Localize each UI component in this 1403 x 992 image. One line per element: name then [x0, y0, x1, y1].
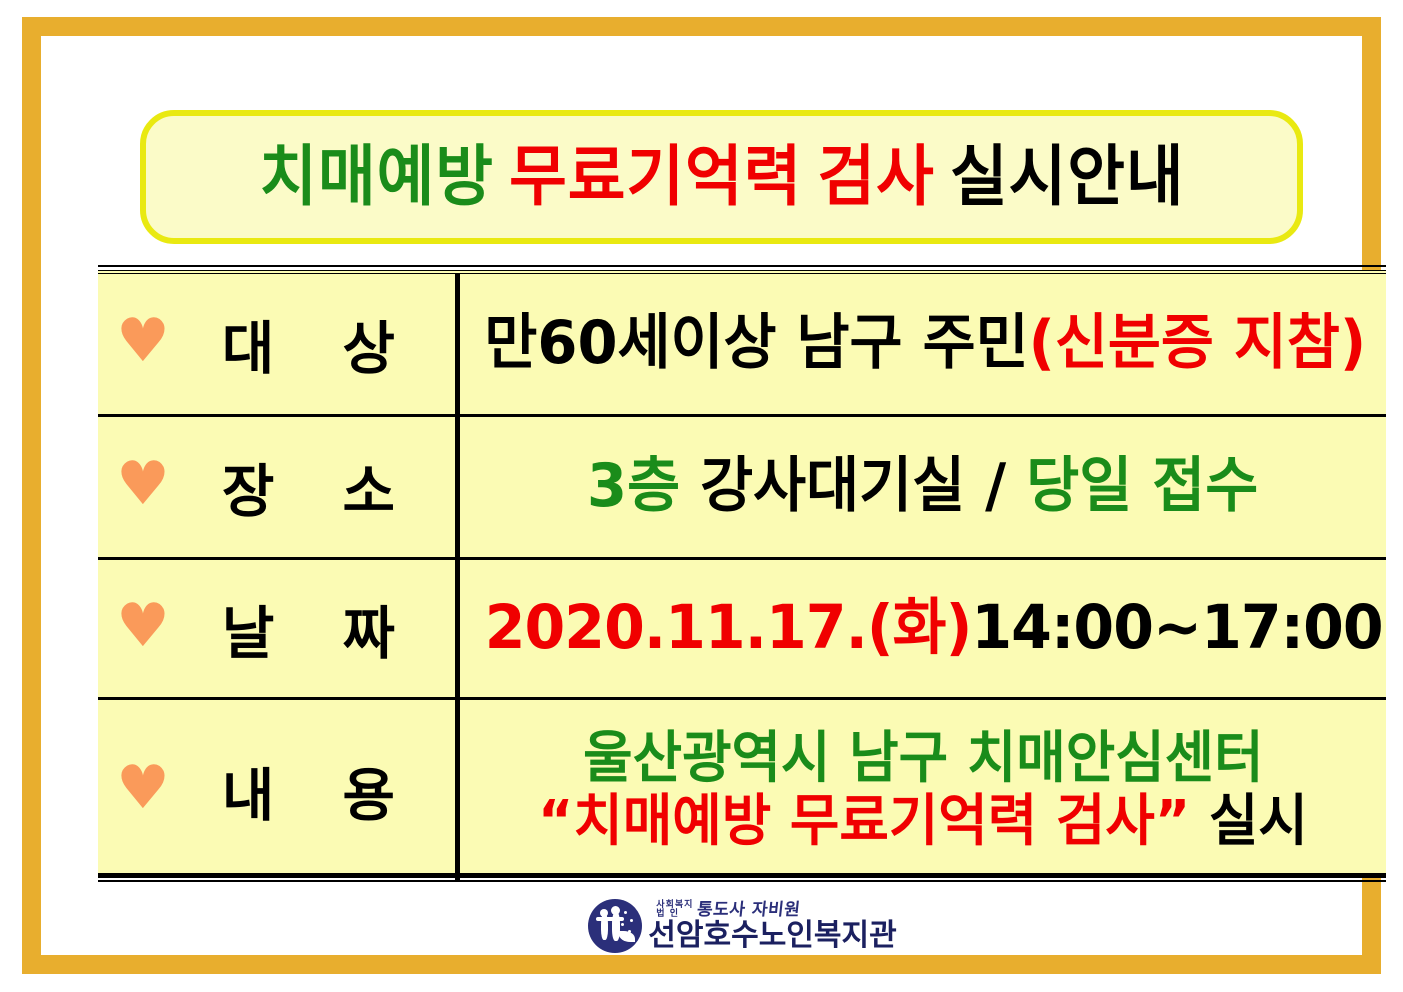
row-label-cell: ♥ 장 소: [98, 417, 460, 557]
organization-logo: 사회복지 법 인 통도사 자비원 선암호수노인복지관: [82, 899, 1403, 953]
row-label-text: 대 상: [180, 303, 455, 385]
row-value-cell: 울산광역시 남구 치매안심센터 “치매예방 무료기억력 검사” 실시: [460, 700, 1386, 882]
row-label-cell: ♥ 내 용: [98, 700, 460, 882]
logo-center-name: 선암호수노인복지관: [648, 921, 896, 951]
row-value-line: “치매예방 무료기억력 검사” 실시: [538, 791, 1308, 854]
value-segment: 14:00~17:00: [971, 592, 1382, 663]
row-label-char: 내: [222, 750, 274, 832]
title-banner: 치매예방무료기억력검사실시안내: [140, 110, 1303, 244]
logo-text-block: 사회복지 법 인 통도사 자비원 선암호수노인복지관: [648, 901, 896, 952]
row-value-cell: 만60세이상 남구 주민(신분증 지참): [460, 274, 1391, 414]
row-value-line: 울산광역시 남구 치매안심센터: [583, 728, 1263, 791]
value-segment: 3층: [587, 451, 680, 521]
title-segment-1: 치매예방: [259, 138, 494, 215]
row-label-char: 상: [342, 303, 394, 385]
value-segment: 울산광역시 남구 치매안심센터: [583, 726, 1263, 791]
value-segment: 강사대기실 /: [680, 451, 1026, 521]
logo-foundation-name: 통도사 자비원: [697, 902, 802, 919]
value-segment: “치매예방 무료기억력 검사”: [538, 789, 1190, 854]
row-value-cell: 3층 강사대기실 / 당일 접수: [460, 417, 1386, 557]
row-label-char: 대: [222, 303, 274, 385]
row-label-cell: ♥ 날 짜: [98, 560, 460, 697]
row-label-text: 날 짜: [180, 588, 455, 670]
table-row: ♥ 날 짜 2020.11.17.(화)14:00~17:00: [98, 560, 1386, 700]
table-row: ♥ 대 상 만60세이상 남구 주민(신분증 지참): [98, 274, 1386, 417]
row-label-char: 용: [342, 750, 394, 832]
row-label-char: 날: [222, 588, 274, 670]
value-segment: 2020.11.17.(화): [485, 592, 972, 663]
row-label-cell: ♥ 대 상: [98, 274, 460, 414]
heart-icon: ♥: [116, 311, 170, 371]
page-title: 치매예방무료기억력검사실시안내: [259, 144, 1184, 210]
poster-inner-area: 치매예방무료기억력검사실시안내 ♥ 대 상 만6: [82, 72, 1403, 991]
value-segment: 만60세이상 남구 주민: [484, 308, 1028, 378]
value-segment: 당일 접수: [1027, 451, 1259, 521]
row-label-text: 장 소: [180, 446, 455, 528]
title-segment-2: 무료기억력: [509, 138, 802, 215]
row-label-char: 소: [342, 446, 394, 528]
table-row: ♥ 내 용 울산광역시 남구 치매안심센터 “치매예방 무료기억력 검사” 실시: [98, 700, 1386, 882]
logo-subtitle: 사회복지 법 인 통도사 자비원: [656, 901, 896, 920]
row-label-char: 짜: [342, 588, 394, 670]
heart-icon: ♥: [116, 596, 170, 656]
row-value-line: 2020.11.17.(화)14:00~17:00: [485, 594, 1383, 662]
poster-gold-frame: 치매예방무료기억력검사실시안내 ♥ 대 상 만6: [22, 17, 1381, 974]
poster-root: 치매예방무료기억력검사실시안내 ♥ 대 상 만6: [0, 0, 1403, 992]
row-value-cell: 2020.11.17.(화)14:00~17:00: [460, 560, 1403, 697]
title-segment-4: 실시안내: [950, 138, 1185, 215]
value-segment: (신분증 지참): [1029, 308, 1367, 378]
heart-icon: ♥: [116, 454, 170, 514]
title-segment-3: 검사: [817, 138, 934, 215]
row-value-line: 3층 강사대기실 / 당일 접수: [587, 453, 1258, 520]
logo-stacked-label: 사회복지 법 인: [656, 901, 693, 920]
welfare-circle-emblem-icon: [588, 899, 642, 953]
row-label-text: 내 용: [180, 750, 455, 832]
row-value-line: 만60세이상 남구 주민(신분증 지참): [484, 310, 1366, 377]
info-table: ♥ 대 상 만60세이상 남구 주민(신분증 지참): [98, 270, 1386, 878]
value-segment: 실시: [1190, 789, 1308, 854]
heart-icon: ♥: [116, 758, 170, 818]
table-row: ♥ 장 소 3층 강사대기실 / 당일 접수: [98, 417, 1386, 560]
row-label-char: 장: [222, 446, 274, 528]
